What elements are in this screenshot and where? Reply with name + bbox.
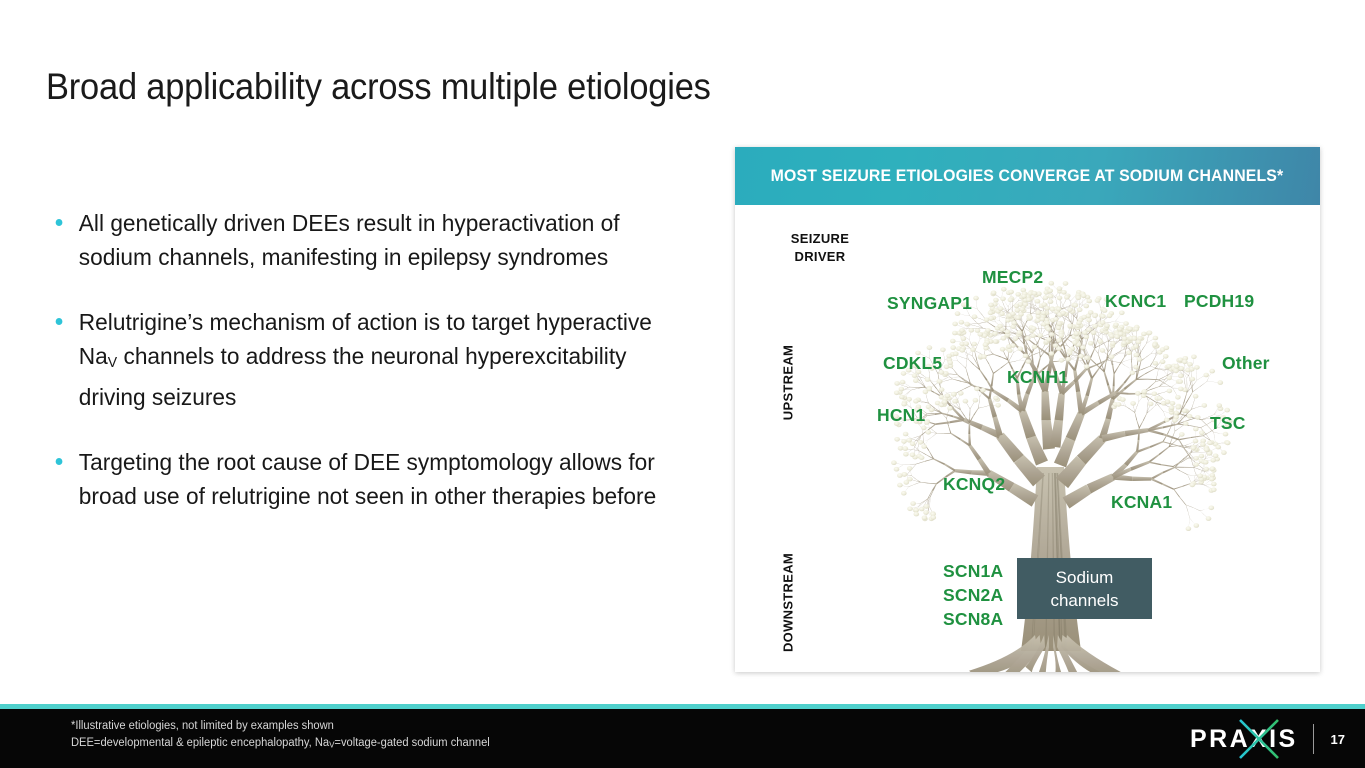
figure-panel: MOST SEIZURE ETIOLOGIES CONVERGE AT SODI… bbox=[735, 147, 1320, 672]
bullet-text-1: All genetically driven DEEs result in hy… bbox=[79, 210, 620, 270]
figure-header-title: MOST SEIZURE ETIOLOGIES CONVERGE AT SODI… bbox=[748, 166, 1307, 186]
gene-label-other: Other bbox=[1222, 353, 1270, 374]
gene-label-scn2a: SCN2A bbox=[943, 583, 1003, 607]
bullet-dot-icon bbox=[56, 219, 63, 226]
bullet-dot-icon bbox=[56, 458, 63, 465]
gene-label-cdkl5: CDKL5 bbox=[883, 353, 942, 374]
sodium-line-1: Sodium bbox=[1056, 568, 1114, 587]
gene-label-hcn1: HCN1 bbox=[877, 405, 925, 426]
bullet-item-3: Targeting the root cause of DEE symptomo… bbox=[46, 445, 683, 513]
page-number: 17 bbox=[1331, 732, 1345, 747]
axis-label-downstream: DOWNSTREAM bbox=[781, 538, 796, 668]
gene-label-syngap1: SYNGAP1 bbox=[887, 293, 972, 314]
slide-canvas: Broad applicability across multiple etio… bbox=[0, 0, 1365, 768]
figure-body: SEIZURE DRIVER UPSTREAM DOWNSTREAM MECP2… bbox=[735, 205, 1320, 672]
footnote-1: *Illustrative etiologies, not limited by… bbox=[71, 718, 490, 735]
page-title: Broad applicability across multiple etio… bbox=[46, 66, 711, 108]
bullet-dot-icon bbox=[56, 318, 63, 325]
bullet-item-2: Relutrigine’s mechanism of action is to … bbox=[46, 305, 683, 414]
bullet-item-1: All genetically driven DEEs result in hy… bbox=[46, 206, 683, 274]
tree-roots bbox=[969, 635, 1128, 672]
bullet-list: All genetically driven DEEs result in hy… bbox=[46, 206, 706, 513]
gene-label-kcnh1: KCNH1 bbox=[1007, 367, 1068, 388]
gene-label-tsc: TSC bbox=[1210, 413, 1246, 434]
gene-label-pcdh19: PCDH19 bbox=[1184, 291, 1254, 312]
axis-label-driver: DRIVER bbox=[778, 248, 862, 266]
gene-label-kcnq2: KCNQ2 bbox=[943, 474, 1005, 495]
brand-logo-block: PRAXIS bbox=[1190, 724, 1345, 754]
bullet-text-2-subscript: V bbox=[108, 355, 117, 371]
bullet-text-2-after: channels to address the neuronal hyperex… bbox=[79, 343, 627, 410]
praxis-logo: PRAXIS bbox=[1190, 724, 1297, 754]
sodium-channels-callout: Sodium channels bbox=[1017, 558, 1152, 619]
sodium-line-2: channels bbox=[1050, 591, 1118, 610]
axis-label-upstream: UPSTREAM bbox=[781, 328, 796, 438]
axis-label-seizure-driver: SEIZURE DRIVER bbox=[778, 230, 862, 266]
footnotes: *Illustrative etiologies, not limited by… bbox=[71, 718, 490, 754]
logo-divider bbox=[1313, 724, 1314, 754]
axis-label-seizure: SEIZURE bbox=[778, 230, 862, 248]
praxis-wordmark: PRAXIS bbox=[1190, 724, 1297, 754]
footnote-2-before: DEE=developmental & epileptic encephalop… bbox=[71, 737, 329, 749]
downstream-gene-stack: SCN1A SCN2A SCN8A bbox=[943, 559, 1003, 631]
gene-label-scn1a: SCN1A bbox=[943, 559, 1003, 583]
footer-bar: *Illustrative etiologies, not limited by… bbox=[0, 709, 1365, 768]
gene-label-kcnc1: KCNC1 bbox=[1105, 291, 1166, 312]
bullet-text-3: Targeting the root cause of DEE symptomo… bbox=[79, 449, 656, 509]
figure-header-bar: MOST SEIZURE ETIOLOGIES CONVERGE AT SODI… bbox=[735, 147, 1320, 205]
footnote-2: DEE=developmental & epileptic encephalop… bbox=[71, 735, 490, 754]
sodium-channels-label: Sodium channels bbox=[1050, 566, 1118, 612]
footnote-2-after: =voltage-gated sodium channel bbox=[334, 737, 489, 749]
gene-label-kcna1: KCNA1 bbox=[1111, 492, 1172, 513]
gene-label-scn8a: SCN8A bbox=[943, 607, 1003, 631]
gene-label-mecp2: MECP2 bbox=[982, 267, 1043, 288]
